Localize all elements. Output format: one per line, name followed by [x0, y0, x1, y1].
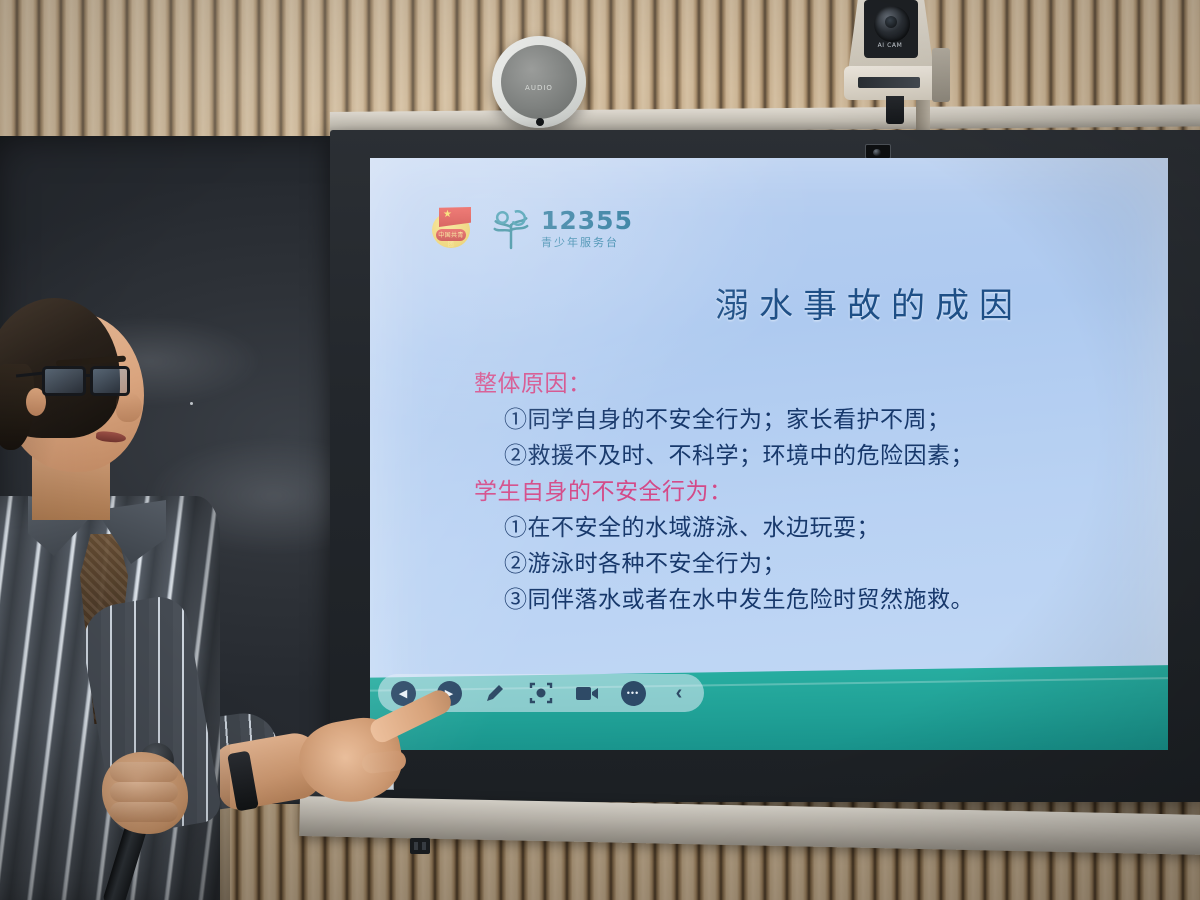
hand-holding-microphone — [102, 752, 188, 834]
pen-tool-button[interactable] — [482, 680, 508, 706]
section-2-item-1: ①在不安全的水域游泳、水边玩耍； — [474, 510, 1144, 546]
collapse-toolbar-button[interactable]: ‹ — [666, 680, 692, 706]
video-camera-icon — [575, 684, 599, 702]
wall-power-outlet-icon — [410, 838, 430, 854]
service-hotline-logo: 12355 青少年服务台 — [490, 206, 633, 250]
speaker-brand-label: AUDIO — [492, 84, 586, 92]
speaker-led-icon — [536, 118, 544, 126]
interactive-flat-panel[interactable]: ★ 中国共青团 — [330, 130, 1200, 802]
section-1-item-2: ②救援不及时、不科学；环境中的危险因素； — [474, 438, 1144, 474]
screenshot-button[interactable] — [528, 680, 554, 706]
section-2-item-2: ②游泳时各种不安全行为； — [474, 546, 1144, 582]
nose — [116, 392, 142, 422]
tree-logo-icon — [490, 206, 532, 250]
screenshot-icon — [529, 682, 553, 704]
camera-stem — [886, 96, 904, 124]
camera-lens-icon — [874, 6, 910, 42]
ceiling-speaker-icon: AUDIO — [492, 36, 586, 128]
service-number: 12355 — [541, 208, 633, 233]
service-subtitle: 青少年服务台 — [541, 237, 633, 248]
camera-brand-label: AI CAM — [866, 42, 914, 52]
video-record-button[interactable] — [574, 680, 600, 706]
presentation-screen[interactable]: ★ 中国共青团 — [370, 158, 1168, 750]
speaker-grille — [501, 45, 577, 119]
classroom-photo: AUDIO AI CAM — [0, 0, 1200, 900]
camera-wall-mount — [932, 48, 950, 102]
glasses-lens-left — [42, 366, 86, 396]
panel-camera-sensor-icon — [865, 144, 891, 159]
communist-youth-league-emblem-icon: ★ 中国共青团 — [430, 206, 474, 250]
more-options-button[interactable]: ••• — [620, 680, 646, 706]
slide-logo-group: ★ 中国共青团 — [430, 206, 633, 250]
slide-body: 整体原因： ①同学自身的不安全行为；家长看护不周； ②救援不及时、不科学；环境中… — [474, 366, 1144, 618]
section-1-item-1: ①同学自身的不安全行为；家长看护不周； — [474, 402, 1144, 438]
pen-icon — [484, 682, 506, 704]
emblem-ribbon-text: 中国共青团 — [436, 230, 466, 248]
presenter — [0, 300, 400, 900]
glasses-bridge — [85, 374, 93, 377]
camera-base-strip — [858, 77, 920, 88]
section-heading-2: 学生自身的不安全行为： — [474, 474, 1144, 510]
section-2-item-3: ③同伴落水或者在水中发生危险时贸然施救。 — [474, 582, 1144, 618]
section-heading-1: 整体原因： — [474, 366, 1144, 402]
slide-title: 溺水事故的成因 — [370, 278, 1138, 327]
camera-base — [844, 66, 940, 100]
ptz-camera-icon: AI CAM — [840, 0, 946, 118]
